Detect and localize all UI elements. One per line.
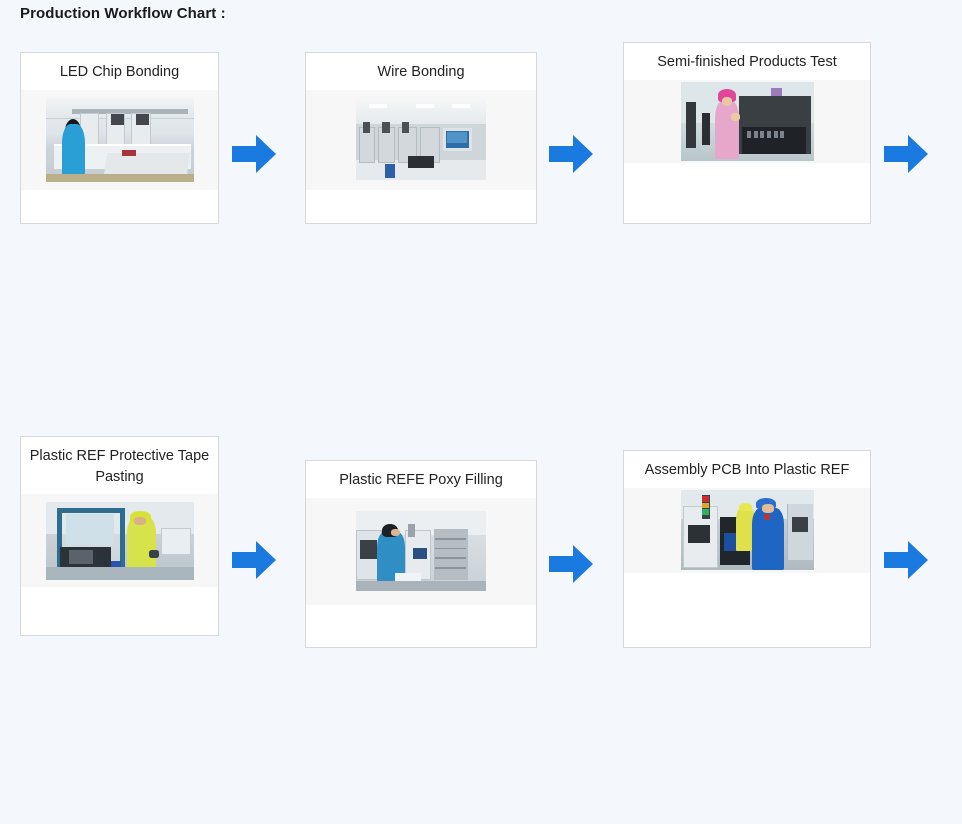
step-photo-band <box>21 90 218 190</box>
step-title: LED Chip Bonding <box>21 62 218 83</box>
flow-arrow-2 <box>549 133 593 175</box>
step-card-wire-bonding[interactable]: Wire Bonding <box>305 52 537 224</box>
step-photo-semi-finished-products-test <box>681 82 814 161</box>
step-title: Semi-finished Products Test <box>624 52 870 73</box>
step-photo-led-chip-bonding <box>46 98 194 182</box>
workflow-row-3: Epoxy Baking Part Number Printing <box>0 445 962 651</box>
step-photo-band <box>624 80 870 163</box>
flow-arrow-3 <box>884 133 928 175</box>
step-card-led-chip-bonding[interactable]: LED Chip Bonding <box>20 52 219 224</box>
step-title: Wire Bonding <box>306 62 536 83</box>
page-title: Production Workflow Chart : <box>20 5 226 22</box>
workflow-row-1: LED Chip Bonding Wire Bonding <box>0 34 962 239</box>
step-photo-band <box>306 90 536 190</box>
workflow-row-4: Film Pasting Finished Products Appearanc… <box>0 651 962 824</box>
flow-arrow-1 <box>232 133 276 175</box>
step-photo-wire-bonding <box>356 100 486 180</box>
workflow-grid: LED Chip Bonding Wire Bonding <box>0 34 962 824</box>
workflow-row-2: Plastic REF Protective Tape Pasting Plas… <box>0 239 962 445</box>
step-card-semi-finished-products-test[interactable]: Semi-finished Products Test <box>623 42 871 224</box>
